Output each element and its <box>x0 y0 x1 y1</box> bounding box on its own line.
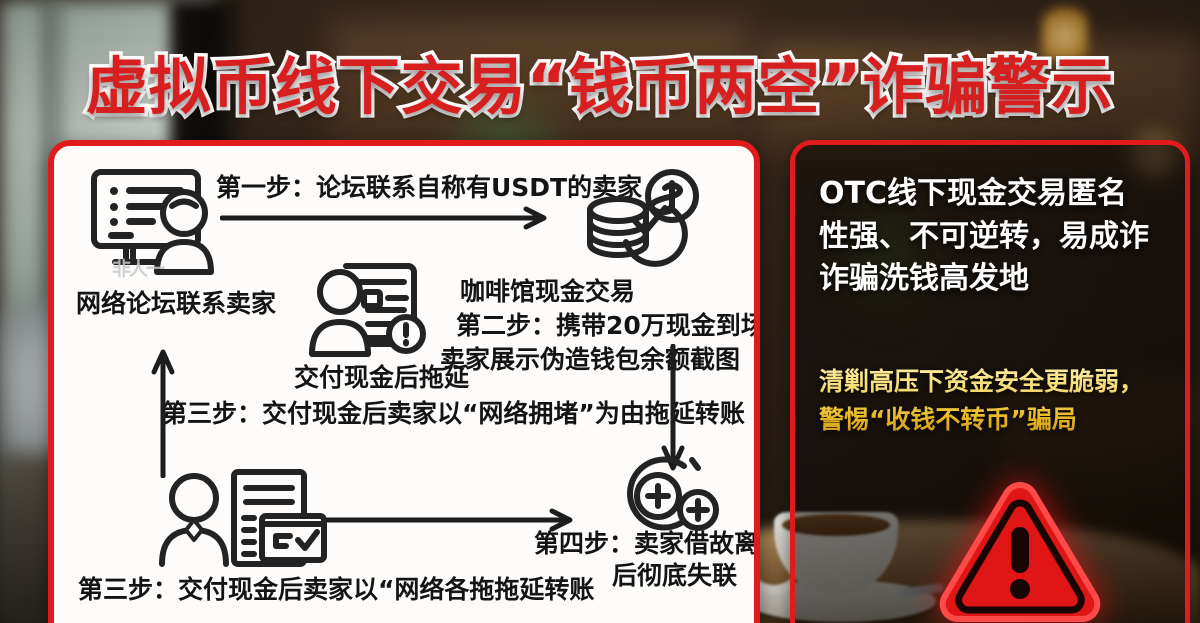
flow-card: 非人一 网络论坛联系卖家 第一步：论坛联系自称有USDT的卖家 <box>48 140 760 623</box>
warning-panel: OTC线下现金交易匿名 性强、不可逆转，易成诈 诈骗洗钱高发地 清剿高压下资金安… <box>790 140 1190 623</box>
node-label-delay: 交付现金后拖延 <box>294 358 469 394</box>
step-2-line2: 卖家展示伪造钱包余额截图 <box>440 340 740 376</box>
panel-warning-text: 清剿高压下资金安全更脆弱， 警惕“收钱不转币”骗局 <box>819 363 1167 438</box>
step-4-line1: 第四步：卖家借故离开 <box>534 524 760 560</box>
warning-triangle-icon <box>935 475 1105 623</box>
coins-check-icon <box>582 164 712 277</box>
step-2-line1: 第二步：携带20万现金到场， <box>456 306 760 342</box>
node-label-forum: 网络论坛联系卖家 <box>76 284 276 320</box>
poster-title: 虚拟币线下交易“钱币两空”诈骗警示 <box>0 36 1200 126</box>
step-4-line2: 后彻底失联 <box>612 556 737 592</box>
panel-headline-line3: 诈骗洗钱高发地 <box>819 258 1167 301</box>
ghost-artifact-text: 非人一 <box>112 254 222 280</box>
step-3-bottom-text: 第三步：交付现金后卖家以“网络各拖拖延转账 <box>78 570 594 606</box>
person-checklist-icon <box>150 464 330 579</box>
flow-diagram: 非人一 网络论坛联系卖家 第一步：论坛联系自称有USDT的卖家 <box>54 146 754 623</box>
panel-headline-line1: OTC线下现金交易匿名 <box>819 173 1167 216</box>
panel-headline: OTC线下现金交易匿名 性强、不可逆转，易成诈 诈骗洗钱高发地 <box>819 173 1167 301</box>
panel-warning-line1: 清剿高压下资金安全更脆弱， <box>819 363 1167 401</box>
step-3-text: 第三步：交付现金后卖家以“网络拥堵”为由拖延转账 <box>162 394 745 430</box>
panel-headline-line2: 性强、不可逆转，易成诈 <box>819 216 1167 259</box>
arrow-up-loop <box>150 346 176 483</box>
arrow-right-step1 <box>220 206 560 235</box>
person-document-alert-icon <box>302 254 432 364</box>
poster-canvas: 虚拟币线下交易“钱币两空”诈骗警示 <box>0 0 1200 623</box>
panel-warning-line2: 警惕“收钱不转币”骗局 <box>819 401 1167 439</box>
node-label-cafe: 咖啡馆现金交易 <box>460 272 635 308</box>
step-1-text: 第一步：论坛联系自称有USDT的卖家 <box>216 168 642 204</box>
